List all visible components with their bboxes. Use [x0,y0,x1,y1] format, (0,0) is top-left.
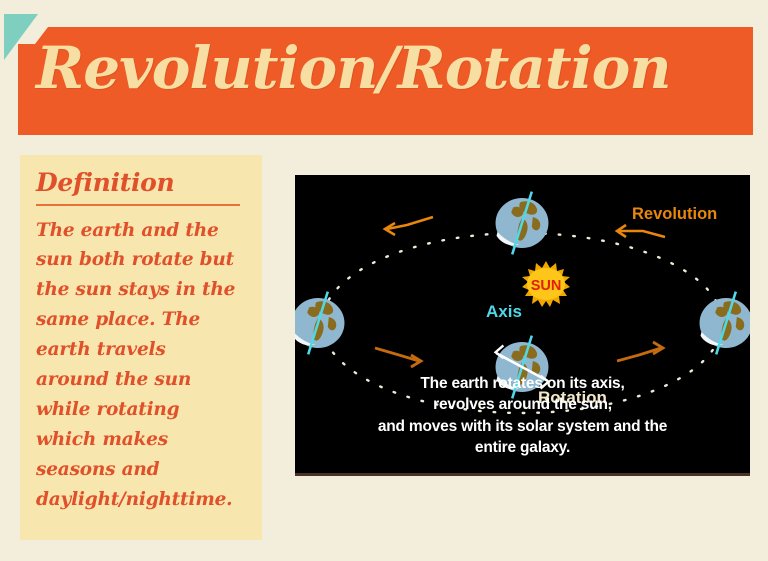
orbit-arrow-bottom-right [617,342,663,361]
caption-line: The earth rotates on its axis, [295,373,750,394]
header-banner: Revolution/Rotation [18,27,753,135]
axis-label: Axis [486,302,522,321]
definition-panel: Definition The earth and the sun both ro… [20,155,262,540]
revolution-arrow-right [617,225,665,237]
revolution-label: Revolution [632,205,717,223]
sun-label: SUN [531,278,562,294]
earth-globe-top [496,192,549,255]
orbit-arrow-bottom-left [375,348,421,367]
caption-line: entire galaxy. [295,437,750,458]
earth-revolution-rotation-diagram: SUN Axis Revolution Rotation The earth r… [295,175,750,476]
caption-line: revolves around the sun, [295,394,750,415]
earth-globe-right [700,292,750,355]
earth-globe-left [295,292,344,355]
diagram-caption: The earth rotates on its axis, revolves … [295,373,750,459]
caption-line: and moves with its solar system and the [295,416,750,437]
definition-body-text: The earth and the sun both rotate but th… [36,216,244,516]
page-title: Revolution/Rotation [36,35,671,102]
definition-divider [36,204,240,206]
definition-heading: Definition [36,169,244,197]
orbit-arrow-top-left [385,217,433,235]
